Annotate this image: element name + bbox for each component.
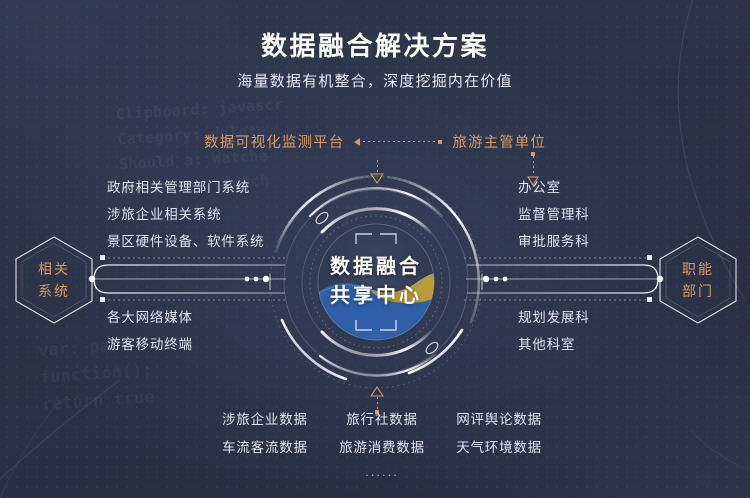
list-item: 涉旅企业相关系统	[107, 201, 221, 228]
center-line2: 共享中心	[330, 282, 422, 311]
page-title: 数据融合解决方案	[0, 26, 750, 63]
list-item: 政府相关管理部门系统	[107, 174, 250, 201]
infographic-canvas: Clipboard: javascr Category: delete Shou…	[0, 0, 750, 498]
data-row-1: 涉旅企业数据 旅行社数据 网评舆论数据	[222, 406, 542, 434]
data-ellipsis: ......	[222, 464, 542, 479]
list-item: 审批服务科	[518, 228, 590, 255]
right-bottom-department-list: 规划发展科 其他科室	[518, 304, 590, 358]
center-line1: 数据融合	[330, 253, 422, 282]
page-subtitle: 海量数据有机整合，深度挖掘内在价值	[0, 70, 750, 91]
hex-left-line2: 系统	[38, 280, 70, 302]
dotted-line	[363, 141, 435, 142]
visualization-platform-label[interactable]: 数据可视化监测平台	[204, 131, 344, 152]
center-label: 数据融合 共享中心	[264, 170, 488, 394]
left-top-source-list: 政府相关管理部门系统 涉旅企业相关系统 景区硬件设备、软件系统	[107, 174, 264, 255]
arrow-head-icon	[354, 138, 360, 146]
data-item: 旅行社数据	[346, 406, 418, 434]
data-item: 旅游消费数据	[339, 434, 425, 462]
hex-functional-departments[interactable]: 职能 部门	[656, 234, 740, 326]
list-item: 其他科室	[518, 331, 575, 358]
data-fusion-center[interactable]: 数据融合 共享中心	[264, 170, 488, 394]
list-item: 规划发展科	[518, 304, 590, 331]
hex-left-line1: 相关	[38, 258, 70, 280]
dot-endpoint-icon	[438, 140, 442, 144]
list-item: 游客移动终端	[107, 331, 193, 358]
data-row-2: 车流客流数据 旅游消费数据 天气环境数据	[222, 434, 542, 462]
hex-related-systems[interactable]: 相关 系统	[12, 234, 96, 326]
list-item: 监督管理科	[518, 201, 590, 228]
list-item: 各大网络媒体	[107, 304, 193, 331]
dotted-arrow-left-icon	[354, 138, 442, 146]
list-item: 办公室	[518, 174, 561, 201]
dotted-line-vertical	[533, 156, 534, 176]
left-bottom-source-list: 各大网络媒体 游客移动终端	[107, 304, 193, 358]
bottom-data-grid: 涉旅企业数据 旅行社数据 网评舆论数据 车流客流数据 旅游消费数据 天气环境数据…	[222, 406, 542, 479]
hex-right-label: 职能 部门	[656, 234, 740, 326]
tourism-authority-label[interactable]: 旅游主管单位	[452, 131, 546, 152]
data-item: 天气环境数据	[456, 434, 542, 462]
hex-left-label: 相关 系统	[12, 234, 96, 326]
hex-right-line2: 部门	[682, 280, 714, 302]
data-item: 网评舆论数据	[456, 406, 542, 434]
data-item: 涉旅企业数据	[222, 406, 308, 434]
data-item: 车流客流数据	[222, 434, 308, 462]
right-top-department-list: 办公室 监督管理科 审批服务科	[518, 174, 590, 255]
top-link-row: 数据可视化监测平台 旅游主管单位	[0, 131, 750, 152]
hex-right-line1: 职能	[682, 258, 714, 280]
list-item: 景区硬件设备、软件系统	[107, 228, 264, 255]
